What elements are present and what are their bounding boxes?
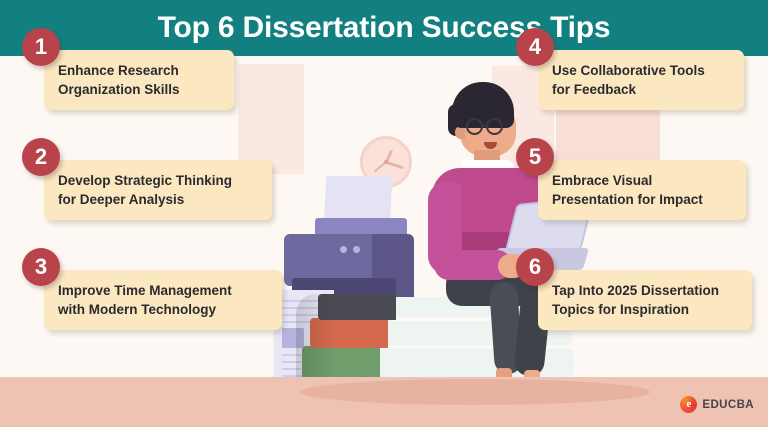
printer-indicator-light [353,246,360,253]
tip-text-line-2: for Feedback [552,80,730,99]
tip-text-line-2: Organization Skills [58,80,220,99]
tip-card-body-2: Develop Strategic Thinking for Deeper An… [44,160,272,220]
educba-mark-icon: e [680,396,697,413]
tip-number-badge-5: 5 [516,138,554,176]
tip-card-body-1: Enhance Research Organization Skills [44,50,234,110]
tip-text-line-1: Use Collaborative Tools [552,61,730,80]
printed-document-figure [282,328,304,348]
glasses-bridge [483,125,487,127]
tip-text-line-1: Tap Into 2025 Dissertation [552,281,738,300]
tip-text-line-2: Topics for Inspiration [552,300,738,319]
floor-shadow [300,379,650,405]
tip-number-badge-1: 1 [22,28,60,66]
tip-text-line-1: Enhance Research [58,61,220,80]
printer-indicator-light [340,246,347,253]
glasses-left-lens [466,118,483,135]
glasses-right-lens [486,118,503,135]
educba-logo[interactable]: e EDUCBA [680,396,754,413]
hair [452,82,514,128]
tip-card-body-6: Tap Into 2025 Dissertation Topics for In… [538,270,752,330]
tip-card-body-4: Use Collaborative Tools for Feedback [538,50,744,110]
tip-number-badge-2: 2 [22,138,60,176]
tip-number-badge-4: 4 [516,28,554,66]
educba-wordmark: EDUCBA [702,399,754,411]
tip-number-badge-6: 6 [516,248,554,286]
tip-text-line-2: for Deeper Analysis [58,190,258,209]
header-band: Top 6 Dissertation Success Tips [0,0,768,56]
tip-text-line-2: with Modern Technology [58,300,268,319]
tip-number-badge-3: 3 [22,248,60,286]
tip-card-body-5: Embrace Visual Presentation for Impact [538,160,746,220]
tip-text-line-1: Improve Time Management [58,281,268,300]
infographic-root: Top 6 Dissertation Success Tips [0,0,768,427]
tip-text-line-2: Presentation for Impact [552,190,732,209]
clock-center-pin [384,160,388,164]
tip-text-line-1: Develop Strategic Thinking [58,171,258,190]
wall-panel-left [238,64,304,174]
illustration-scene [0,56,768,427]
tip-text-line-1: Embrace Visual [552,171,732,190]
clock-minute-hand [386,161,404,169]
tip-card-body-3: Improve Time Management with Modern Tech… [44,270,282,330]
